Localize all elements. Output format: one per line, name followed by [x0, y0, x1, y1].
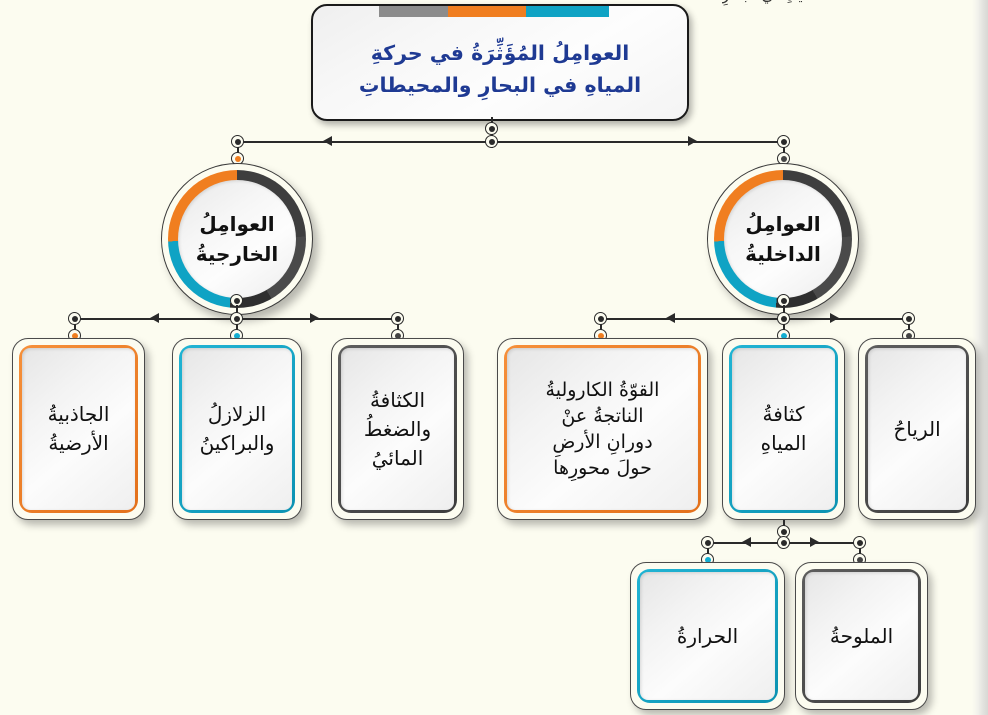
factor-box-water-density[interactable]: كثافةُ المياهِ	[722, 338, 845, 520]
factor-box-density-panel: الكثافةُ والضغطُ المائيُ	[341, 348, 454, 510]
factor-label-water-density-line2: المياهِ	[761, 429, 807, 458]
branch-label-external: العوامِلُ الخارجيةُ	[196, 209, 279, 269]
factor-box-density-water-pressure[interactable]: الكثافةُ والضغطُ المائيُ	[331, 338, 464, 520]
title-line-1: العوامِلُ المُؤَثِّرَةُ في حركةِ	[359, 38, 641, 69]
factor-label-density-line3: المائيُ	[364, 444, 431, 473]
arrow-level1-right	[688, 136, 697, 146]
factor-label-coriolis-line1: القوّةُ الكاروليةُ	[546, 377, 660, 403]
factor-box-salinity-panel: الملوحةُ	[805, 572, 918, 700]
factor-label-coriolis-line2: الناتجةُ عنْ	[546, 403, 660, 429]
branch-label-internal: العوامِلُ الداخليةُ	[745, 209, 821, 269]
arrow-level2-right-a	[666, 313, 675, 323]
factor-box-salinity[interactable]: الملوحةُ	[795, 562, 928, 710]
factor-label-water-density-line1: كثافةُ	[761, 400, 807, 429]
title-bar-segment-gray	[379, 6, 448, 17]
factor-box-coriolis-force[interactable]: القوّةُ الكاروليةُ الناتجةُ عنْ دورانِ ا…	[497, 338, 708, 520]
connector-level2-right-bar	[600, 318, 908, 320]
diagram-canvas: المياهِ في البحارِ العوامِلُ المُؤَثِّرَ…	[0, 0, 988, 715]
factor-box-earthquakes-volcanoes[interactable]: الزلازلُ والبراكينُ	[172, 338, 302, 520]
title-line-2: المياهِ في البحارِ والمحيطاتِ	[359, 70, 641, 101]
factor-label-density-pressure: الكثافةُ والضغطُ المائيُ	[364, 386, 431, 473]
factor-label-water-density: كثافةُ المياهِ	[761, 400, 807, 458]
arrow-level3-left	[742, 537, 751, 547]
factor-box-temperature[interactable]: الحرارةُ	[630, 562, 785, 710]
circle-inner-internal: العوامِلُ الداخليةُ	[724, 180, 842, 298]
circle-inner-external: العوامِلُ الخارجيةُ	[178, 180, 296, 298]
factor-label-earthquakes: الزلازلُ والبراكينُ	[200, 400, 275, 458]
title-color-bar	[379, 6, 609, 17]
arrow-level2-left-b	[310, 313, 319, 323]
branch-label-external-line2: الخارجيةُ	[196, 239, 279, 269]
factor-label-coriolis-line4: حولَ محورِها	[546, 455, 660, 481]
factor-label-gravity-line1: الجاذبيةُ	[48, 400, 110, 429]
factor-box-temperature-panel: الحرارةُ	[640, 572, 775, 700]
branch-node-internal[interactable]: العوامِلُ الداخليةُ	[707, 163, 859, 315]
connector-node-level1-center	[485, 135, 498, 148]
factor-label-earthquakes-line2: والبراكينُ	[200, 429, 275, 458]
branch-node-external[interactable]: العوامِلُ الخارجيةُ	[161, 163, 313, 315]
factor-box-gravity[interactable]: الجاذبيةُ الأرضيةُ	[12, 338, 145, 520]
page-title: العوامِلُ المُؤَثِّرَةُ في حركةِ المياهِ…	[343, 24, 657, 100]
branch-label-external-line1: العوامِلُ	[196, 209, 279, 239]
arrow-level3-right	[810, 537, 819, 547]
factor-box-water-density-panel: كثافةُ المياهِ	[732, 348, 835, 510]
factor-label-winds-line1: الرياحُ	[893, 415, 940, 444]
factor-label-density-line1: الكثافةُ	[364, 386, 431, 415]
branch-label-internal-line1: العوامِلُ	[745, 209, 821, 239]
title-bar-segment-teal	[526, 6, 609, 17]
factor-box-winds-panel: الرياحُ	[868, 348, 966, 510]
factor-label-temperature: الحرارةُ	[677, 622, 738, 651]
connector-node-level3-center	[777, 536, 790, 549]
factor-label-gravity-line2: الأرضيةُ	[48, 429, 110, 458]
connector-level1-bar	[237, 141, 783, 143]
factor-label-density-line2: والضغطُ	[364, 415, 431, 444]
factor-label-earthquakes-line1: الزلازلُ	[200, 400, 275, 429]
arrow-level1-left	[323, 136, 332, 146]
arrow-level2-left-a	[150, 313, 159, 323]
factor-label-coriolis: القوّةُ الكاروليةُ الناتجةُ عنْ دورانِ ا…	[546, 377, 660, 482]
arrow-level2-right-b	[830, 313, 839, 323]
diagram-title-card: العوامِلُ المُؤَثِّرَةُ في حركةِ المياهِ…	[311, 4, 689, 121]
branch-label-internal-line2: الداخليةُ	[745, 239, 821, 269]
factor-box-coriolis-panel: القوّةُ الكاروليةُ الناتجةُ عنْ دورانِ ا…	[507, 348, 698, 510]
factor-box-gravity-panel: الجاذبيةُ الأرضيةُ	[22, 348, 135, 510]
factor-label-temperature-line1: الحرارةُ	[677, 622, 738, 651]
cut-off-page-header: المياهِ في البحارِ	[722, 0, 952, 6]
factor-label-salinity: الملوحةُ	[830, 622, 893, 651]
factor-box-winds[interactable]: الرياحُ	[858, 338, 976, 520]
factor-label-coriolis-line3: دورانِ الأرضِ	[546, 429, 660, 455]
factor-box-earthquakes-panel: الزلازلُ والبراكينُ	[182, 348, 292, 510]
factor-label-gravity: الجاذبيةُ الأرضيةُ	[48, 400, 110, 458]
factor-label-salinity-line1: الملوحةُ	[830, 622, 893, 651]
factor-label-winds: الرياحُ	[893, 415, 940, 444]
title-bar-segment-orange	[448, 6, 526, 17]
